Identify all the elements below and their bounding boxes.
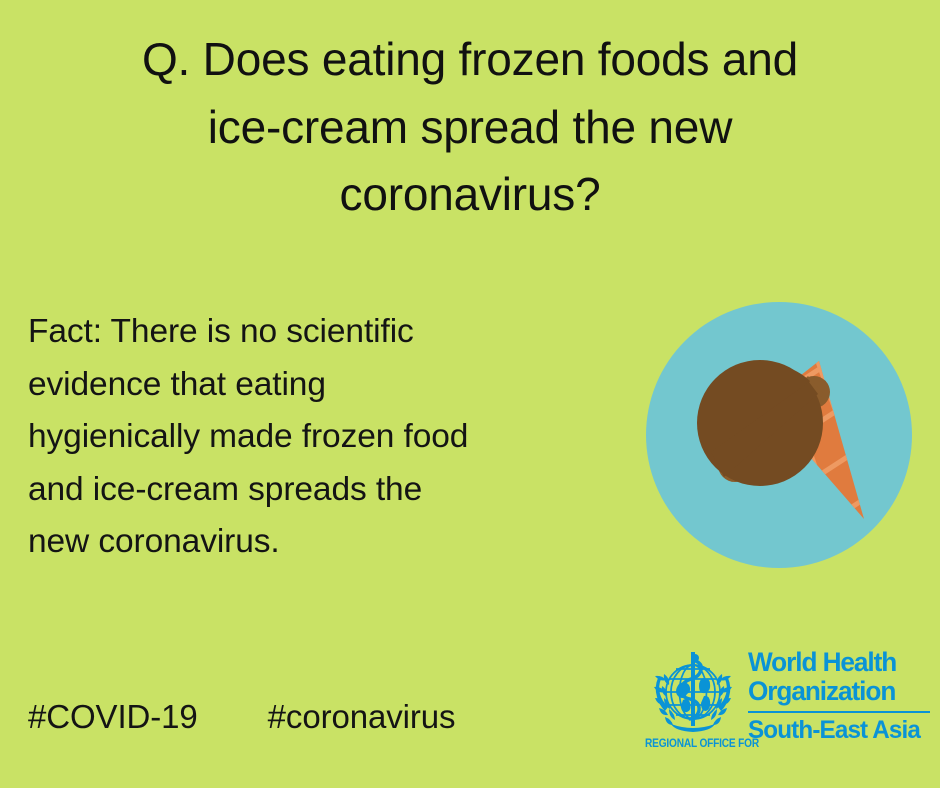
covid-myth-buster-poster: Q. Does eating frozen foods and ice-crea… bbox=[0, 0, 940, 788]
who-wordmark: World Health Organization bbox=[748, 648, 930, 706]
fact-body-text: Fact: There is no scientific evidence th… bbox=[28, 306, 628, 569]
who-divider-rule bbox=[748, 711, 930, 713]
hashtag-row: #COVID-19 #coronavirus bbox=[28, 698, 455, 736]
ice-cream-cone-icon bbox=[646, 302, 912, 568]
who-logo: REGIONAL OFFICE FOR World Health Organiz… bbox=[645, 648, 930, 754]
hashtag-coronavirus: #coronavirus bbox=[268, 698, 456, 736]
who-subregion-label: South-East Asia bbox=[748, 716, 920, 745]
hashtag-covid19: #COVID-19 bbox=[28, 698, 198, 736]
who-regional-office-label: REGIONAL OFFICE FOR bbox=[645, 738, 759, 750]
who-wordmark-line-1: World Health bbox=[748, 648, 925, 677]
who-emblem-icon bbox=[645, 648, 741, 738]
chocolate-scoop bbox=[697, 360, 823, 486]
who-wordmark-line-2: Organization bbox=[748, 677, 925, 706]
question-headline: Q. Does eating frozen foods and ice-crea… bbox=[50, 26, 890, 229]
